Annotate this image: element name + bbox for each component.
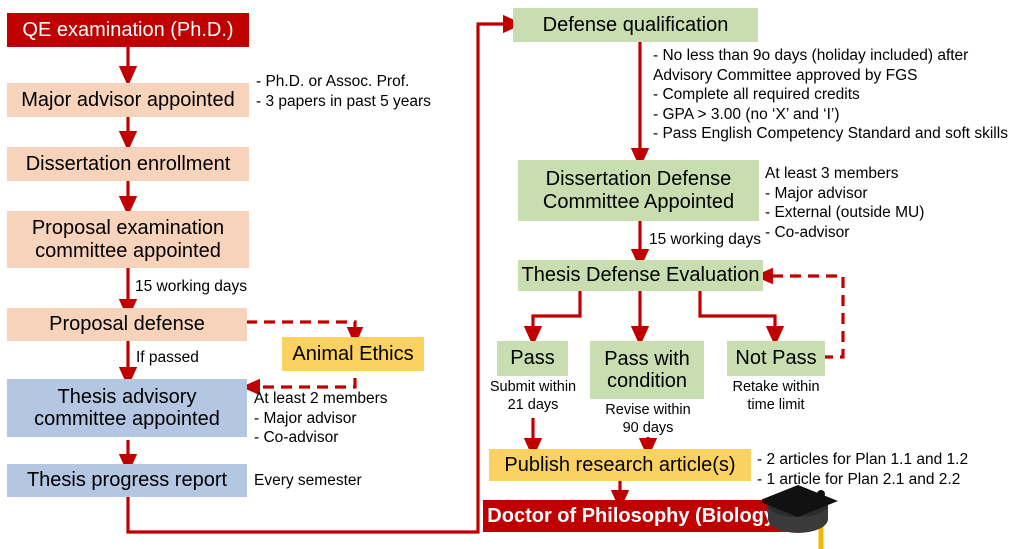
node-pass[interactable]: Pass xyxy=(497,341,568,376)
note-major-advisor: - Ph.D. or Assoc. Prof. - 3 papers in pa… xyxy=(256,72,431,111)
label-committee-15-working-days: 15 working days xyxy=(649,230,761,250)
node-proposal-defense[interactable]: Proposal defense xyxy=(7,308,247,341)
node-not-pass[interactable]: Not Pass xyxy=(727,341,825,376)
flowchart-canvas: QE examination (Ph.D.) Major advisor app… xyxy=(0,0,1024,549)
note-defense-qualification: - No less than 9o days (holiday included… xyxy=(653,46,1008,144)
note-pass: Submit within 21 days xyxy=(480,378,586,415)
label-proposal-15-working-days: 15 working days xyxy=(135,277,247,297)
note-thesis-progress: Every semester xyxy=(254,471,362,491)
note-pass-with-condition: Revise within 90 days xyxy=(594,401,702,438)
node-animal-ethics[interactable]: Animal Ethics xyxy=(282,337,424,371)
node-pass-with-condition[interactable]: Pass with condition xyxy=(590,341,704,399)
node-dissertation-enrollment[interactable]: Dissertation enrollment xyxy=(7,147,249,181)
node-publish-research-articles[interactable]: Publish research article(s) xyxy=(489,449,751,481)
node-thesis-defense-evaluation[interactable]: Thesis Defense Evaluation xyxy=(518,260,763,291)
node-doctor-of-philosophy[interactable]: Doctor of Philosophy (Biology) xyxy=(483,500,786,532)
node-thesis-advisory-committee[interactable]: Thesis advisory committee appointed xyxy=(7,379,247,437)
note-dissertation-committee: At least 3 members - Major advisor - Ext… xyxy=(765,164,924,242)
note-publish-articles: - 2 articles for Plan 1.1 and 1.2 - 1 ar… xyxy=(757,450,968,489)
note-not-pass: Retake within time limit xyxy=(722,378,830,415)
node-dissertation-defense-committee[interactable]: Dissertation Defense Committee Appointed xyxy=(518,160,759,221)
note-thesis-advisory: At least 2 members - Major advisor - Co-… xyxy=(254,389,388,448)
node-qe-examination[interactable]: QE examination (Ph.D.) xyxy=(7,13,249,47)
node-defense-qualification[interactable]: Defense qualification xyxy=(513,8,758,42)
node-proposal-examination-committee[interactable]: Proposal examination committee appointed xyxy=(7,211,249,268)
node-major-advisor-appointed[interactable]: Major advisor appointed xyxy=(7,83,249,117)
node-thesis-progress-report[interactable]: Thesis progress report xyxy=(7,464,247,497)
label-if-passed: If passed xyxy=(136,348,199,368)
